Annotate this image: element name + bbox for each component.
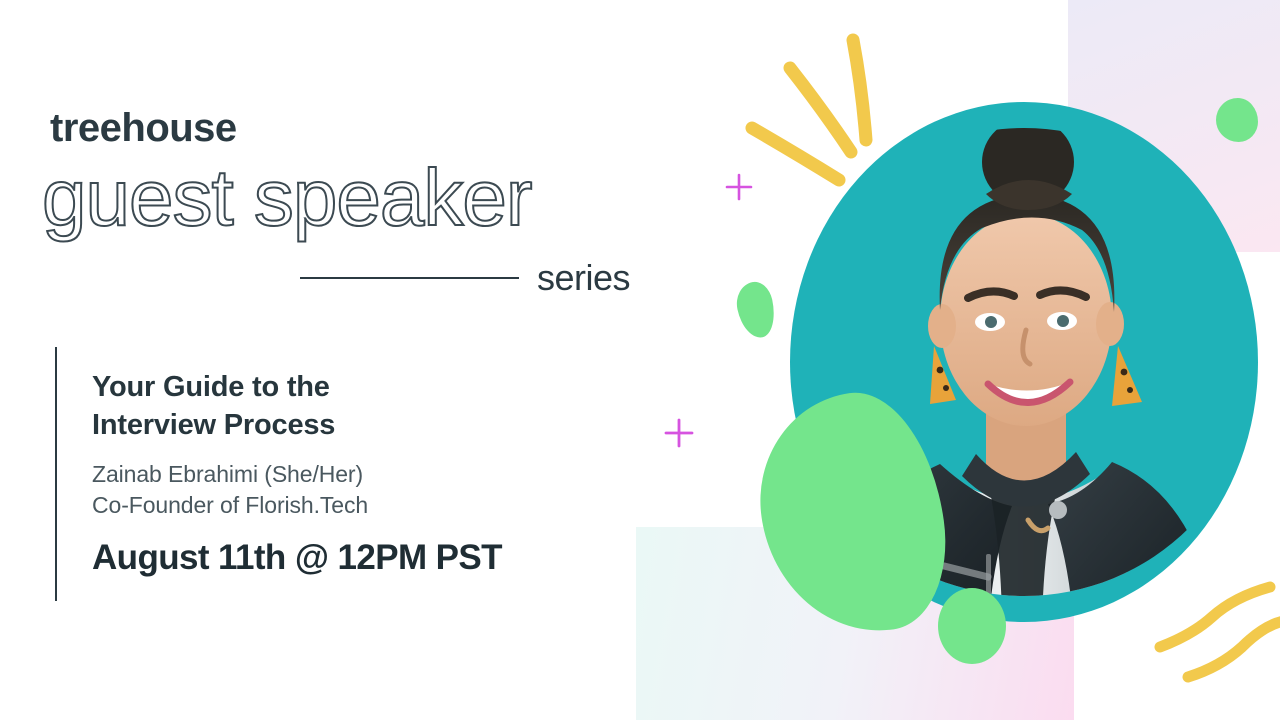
series-divider-rule bbox=[300, 277, 519, 279]
vertical-accent-rule bbox=[55, 347, 57, 601]
squiggle-lines-icon bbox=[1150, 565, 1280, 720]
talk-title: Your Guide to the Interview Process bbox=[92, 368, 632, 445]
talk-info-block: Your Guide to the Interview Process Zain… bbox=[92, 368, 632, 578]
series-row: series bbox=[300, 254, 630, 302]
event-datetime: August 11th @ 12PM PST bbox=[92, 538, 632, 578]
promo-slide: treehouse guest speaker series Your Guid… bbox=[0, 0, 1280, 720]
green-blob-icon bbox=[733, 279, 780, 341]
plus-mark-icon bbox=[724, 172, 754, 207]
speaker-name: Zainab Ebrahimi (She/Her) bbox=[92, 459, 632, 491]
plus-mark-icon bbox=[663, 417, 695, 454]
sparkle-rays-icon bbox=[735, 28, 905, 238]
headline-outline: guest speaker bbox=[42, 158, 532, 238]
green-blob-icon bbox=[938, 588, 1006, 664]
series-label: series bbox=[537, 257, 630, 299]
speaker-role: Co-Founder of Florish.Tech bbox=[92, 490, 632, 522]
brand-wordmark: treehouse bbox=[50, 108, 237, 148]
text-column: treehouse guest speaker series Your Guid… bbox=[0, 0, 660, 720]
